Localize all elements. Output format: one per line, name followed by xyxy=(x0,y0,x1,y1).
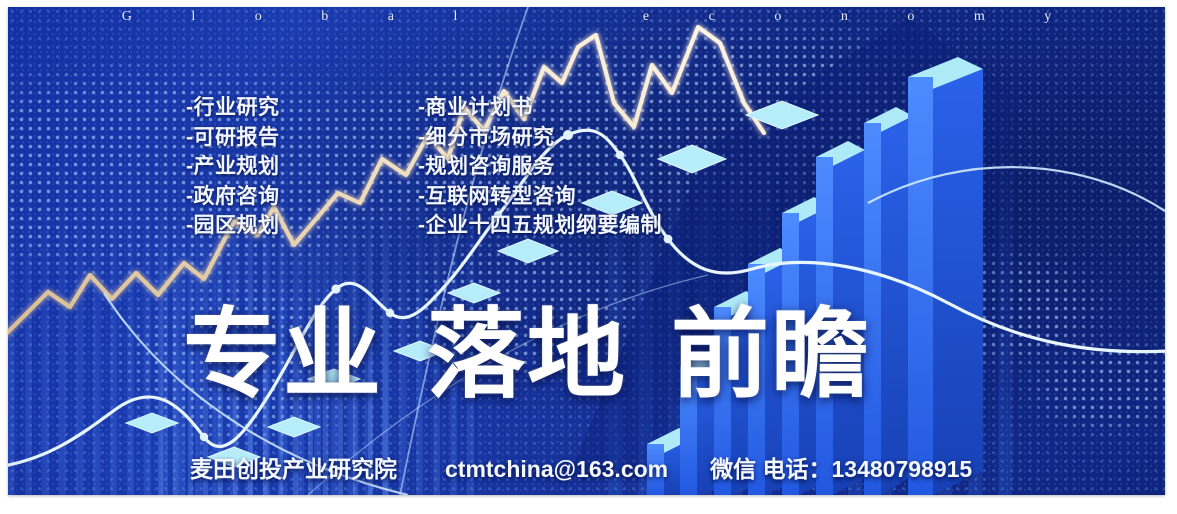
service-item: -细分市场研究 xyxy=(418,123,662,153)
headline-word-3: 前瞻 xyxy=(671,298,871,412)
email-address[interactable]: ctmtchina@163.com xyxy=(445,456,668,482)
services-right-column: -商业计划书 -细分市场研究 -规划咨询服务 -互联网转型咨询 -企业十四五规划… xyxy=(418,93,662,241)
headline-word-2: 落地 xyxy=(427,298,627,412)
contact-label: 微信 电话： xyxy=(710,456,831,482)
headline: 专业落地前瞻 xyxy=(183,303,1023,407)
headline-word-1: 专业 xyxy=(183,298,383,412)
vignette-overlay xyxy=(8,7,1165,495)
phone-number[interactable]: 13480798915 xyxy=(832,456,973,482)
service-item: -规划咨询服务 xyxy=(418,152,662,182)
service-item: -园区规划 xyxy=(186,211,280,241)
footer-contact-line: 麦田创投产业研究院ctmtchina@163.com微信 电话：13480798… xyxy=(190,450,972,484)
service-item: -产业规划 xyxy=(186,152,280,182)
service-item: -可研报告 xyxy=(186,123,280,153)
service-item: -互联网转型咨询 xyxy=(418,182,662,212)
page-title: G l o b a l e c o n o m y xyxy=(8,9,1165,25)
service-item: -行业研究 xyxy=(186,93,280,123)
promo-banner: G l o b a l e c o n o m y -行业研究 -可研报告 -产… xyxy=(8,7,1165,495)
organization-name: 麦田创投产业研究院 xyxy=(190,456,397,482)
service-item: -商业计划书 xyxy=(418,93,662,123)
service-item: -企业十四五规划纲要编制 xyxy=(418,211,662,241)
service-item: -政府咨询 xyxy=(186,182,280,212)
services-left-column: -行业研究 -可研报告 -产业规划 -政府咨询 -园区规划 xyxy=(186,93,280,241)
